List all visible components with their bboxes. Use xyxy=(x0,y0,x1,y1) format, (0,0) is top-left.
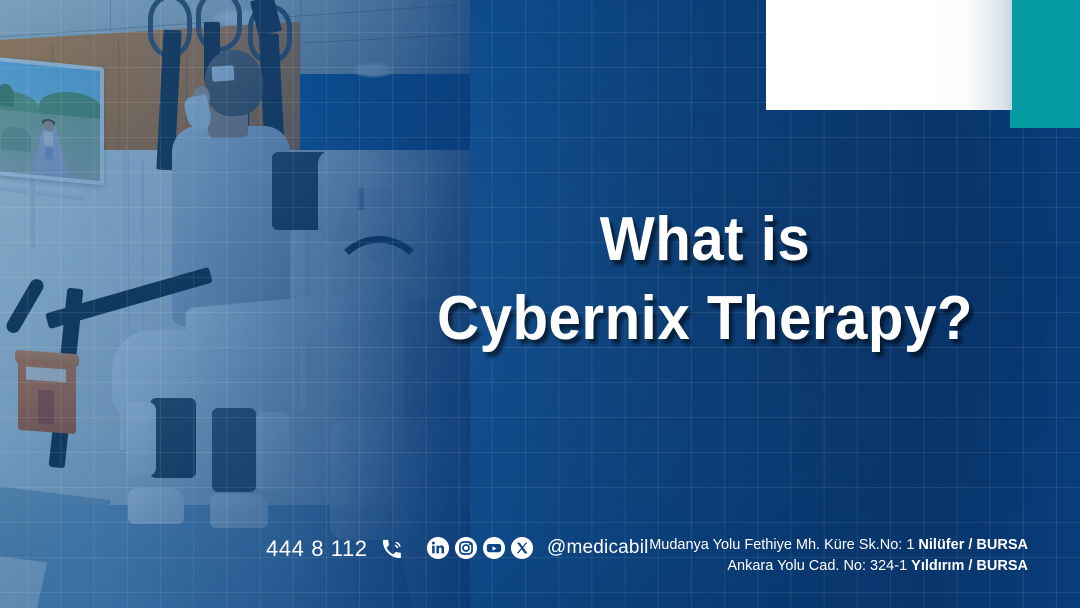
instagram-icon[interactable] xyxy=(455,537,477,559)
address-line-1-district: Nilüfer / BURSA xyxy=(918,537,1028,553)
youtube-icon[interactable] xyxy=(483,537,505,559)
title-line-1: What is xyxy=(400,205,1011,274)
address-line-2: Ankara Yolu Cad. No: 324-1 Yıldırım / BU… xyxy=(649,556,1028,577)
x-twitter-icon[interactable] xyxy=(511,537,533,559)
phone-icon xyxy=(380,537,404,561)
address-line-1: Mudanya Yolu Fethiye Mh. Küre Sk.No: 1 N… xyxy=(649,535,1028,556)
address-line-2-district: Yıldırım / BURSA xyxy=(911,558,1028,574)
phone-number: 444 8 112 xyxy=(266,536,368,562)
social-links[interactable]: @medicabil xyxy=(427,537,649,559)
address-line-1-plain: Mudanya Yolu Fethiye Mh. Küre Sk.No: 1 xyxy=(649,537,918,553)
poster-canvas: MEDICABIL Sağlık Grubu What is Cybernix … xyxy=(0,0,1080,608)
address-block: Mudanya Yolu Fethiye Mh. Küre Sk.No: 1 N… xyxy=(649,535,1028,576)
linkedin-icon[interactable] xyxy=(427,537,449,559)
teal-accent-block xyxy=(1010,0,1080,128)
title-line-2: Cybernix Therapy? xyxy=(400,284,1011,353)
footer-bar: 444 8 112 xyxy=(0,525,1080,585)
page-title: What is Cybernix Therapy? xyxy=(380,205,1030,354)
social-handle[interactable]: @medicabil xyxy=(547,537,649,559)
address-line-2-plain: Ankara Yolu Cad. No: 324-1 xyxy=(727,558,911,574)
phone-block[interactable]: 444 8 112 xyxy=(266,536,404,562)
logo-panel: MEDICABIL Sağlık Grubu xyxy=(766,0,1012,110)
